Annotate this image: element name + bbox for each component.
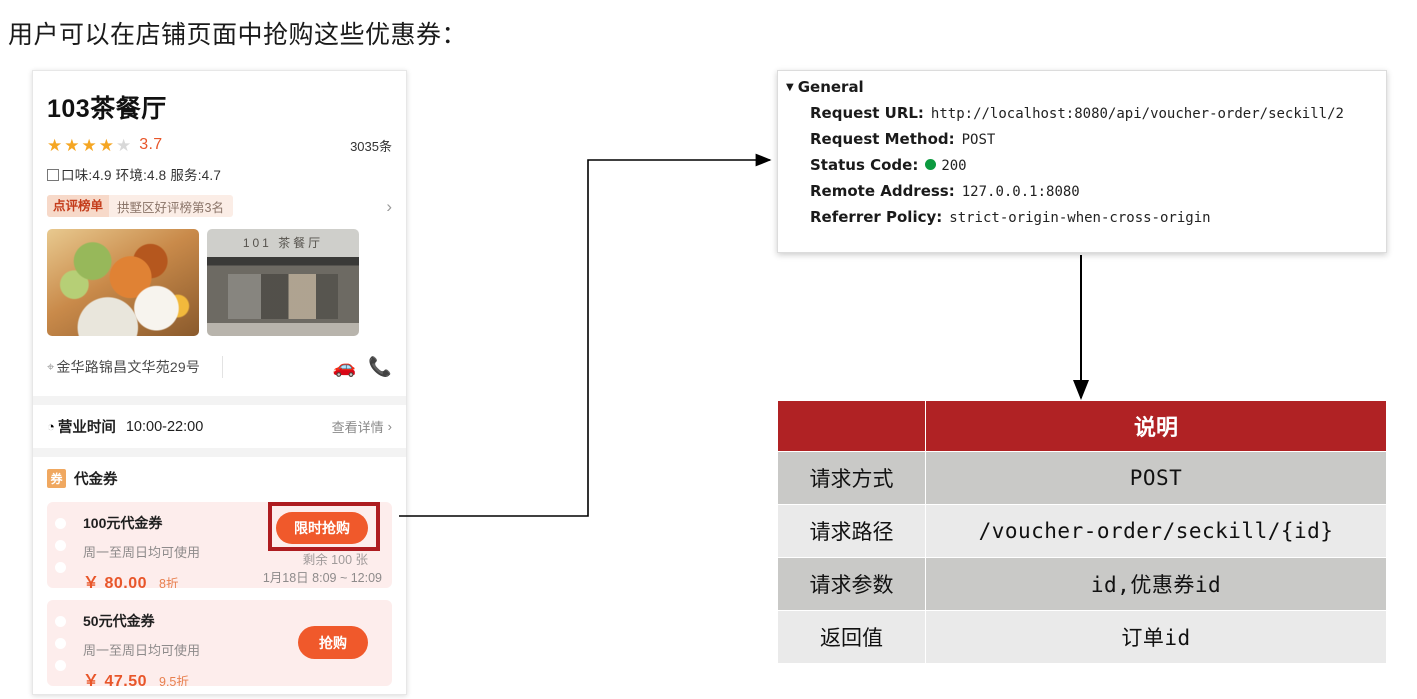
remote-address-label: Remote Address: xyxy=(810,182,955,200)
devtools-general-panel: ▼ General Request URL: http://localhost:… xyxy=(777,70,1387,253)
row-label-path: 请求路径 xyxy=(778,505,926,558)
voucher-time-range: 1月18日 8:09 ~ 12:09 xyxy=(263,567,382,586)
storefront-photo[interactable]: 101 茶餐厅 xyxy=(207,229,359,336)
voucher-desc: 周一至周日均可使用 xyxy=(83,542,200,561)
star-icon-empty: ★ xyxy=(116,137,131,154)
rank-row[interactable]: 点评榜单 拱墅区好评榜第3名 › xyxy=(47,195,392,217)
request-method-value: POST xyxy=(962,132,996,148)
score-text: 口味:4.9 环境:4.8 服务:4.7 xyxy=(61,168,221,183)
voucher-info: 50元代金券 周一至周日均可使用 ￥ 47.50 9.5折 xyxy=(83,611,200,686)
api-spec-table: 说明 请求方式 POST 请求路径 /voucher-order/seckill… xyxy=(777,400,1387,664)
table-row: 请求参数 id,优惠券id xyxy=(778,558,1387,611)
business-hours-row[interactable]: ◔ 营业时间 10:00-22:00 查看详情 › xyxy=(47,405,392,448)
photo-gallery: 101 茶餐厅 xyxy=(47,229,392,336)
star-icon: ★ xyxy=(64,137,79,154)
devtools-row: Request Method: POST xyxy=(778,130,1386,148)
rank-text: 拱墅区好评榜第3名 xyxy=(109,197,224,216)
devtools-row: Remote Address: 127.0.0.1:8080 xyxy=(778,182,1386,200)
page-title: 用户可以在店铺页面中抢购这些优惠券： xyxy=(8,15,467,51)
devtools-row: Request URL: http://localhost:8080/api/v… xyxy=(778,104,1386,122)
chevron-right-icon: › xyxy=(388,419,392,434)
voucher-remaining: 剩余 100 张 xyxy=(303,549,368,568)
voucher-section-header: 券 代金券 xyxy=(47,461,392,495)
view-detail-link[interactable]: 查看详情 › xyxy=(332,417,392,436)
score-breakdown: 口味:4.9 环境:4.8 服务:4.7 xyxy=(47,164,392,184)
star-icon: ★ xyxy=(99,137,114,154)
voucher-title: 50元代金券 xyxy=(83,611,200,631)
arrow-button-to-devtools xyxy=(399,160,770,516)
voucher-price-row: ￥ 80.00 8折 xyxy=(83,569,200,588)
star-icon: ★ xyxy=(82,137,97,154)
section-divider xyxy=(33,448,406,457)
referrer-policy-label: Referrer Policy: xyxy=(810,208,942,226)
voucher-discount: 8折 xyxy=(159,573,178,588)
voucher-badge-icon: 券 xyxy=(47,469,66,488)
clock-icon: ◔ xyxy=(47,419,55,434)
star-icon: ★ xyxy=(47,137,62,154)
shop-name: 103茶餐厅 xyxy=(47,89,392,125)
voucher-item[interactable]: 50元代金券 周一至周日均可使用 ￥ 47.50 9.5折 抢购 xyxy=(47,600,392,686)
request-url-value[interactable]: http://localhost:8080/api/voucher-order/… xyxy=(931,106,1344,122)
car-icon[interactable]: 🚗 xyxy=(333,358,357,377)
dot-icon xyxy=(55,540,66,551)
ticket-perforation xyxy=(55,502,66,588)
square-icon xyxy=(47,169,59,181)
address-row[interactable]: ⌖ 金华路锦昌文华苑29号 🚗 📞 xyxy=(47,352,392,396)
table-row: 请求方式 POST xyxy=(778,452,1387,505)
devtools-section-title: General xyxy=(798,78,864,96)
buy-button[interactable]: 抢购 xyxy=(298,626,368,659)
voucher-title: 100元代金券 xyxy=(83,513,200,533)
status-code-label: Status Code: xyxy=(810,156,918,174)
dot-icon xyxy=(55,660,66,671)
shop-card: 103茶餐厅 ★ ★ ★ ★ ★ 3.7 3035条 口味:4.9 环境:4.8… xyxy=(32,70,407,695)
table-row: 返回值 订单id xyxy=(778,611,1387,664)
voucher-info: 100元代金券 周一至周日均可使用 ￥ 80.00 8折 xyxy=(83,513,200,588)
devtools-section-header[interactable]: ▼ General xyxy=(778,71,1386,96)
dot-icon xyxy=(55,616,66,627)
view-detail-label: 查看详情 xyxy=(332,417,384,436)
status-ok-icon xyxy=(925,159,936,170)
table-header-description: 说明 xyxy=(926,401,1387,452)
row-value-method: POST xyxy=(926,452,1387,505)
request-method-label: Request Method: xyxy=(810,130,955,148)
voucher-desc: 周一至周日均可使用 xyxy=(83,640,200,659)
request-url-label: Request URL: xyxy=(810,104,924,122)
rating-value: 3.7 xyxy=(139,136,162,154)
dot-icon xyxy=(55,638,66,649)
voucher-discount: 9.5折 xyxy=(159,671,189,686)
limited-buy-button[interactable]: 限时抢购 xyxy=(276,512,368,544)
dot-icon xyxy=(55,518,66,529)
devtools-row: Referrer Policy: strict-origin-when-cros… xyxy=(778,208,1386,226)
rank-pill[interactable]: 点评榜单 拱墅区好评榜第3名 xyxy=(47,195,233,217)
row-value-params: id,优惠券id xyxy=(926,558,1387,611)
address-text: 金华路锦昌文华苑29号 xyxy=(56,357,200,377)
row-label-return: 返回值 xyxy=(778,611,926,664)
storefront-sign-text: 101 茶餐厅 xyxy=(207,234,359,251)
voucher-price-row: ￥ 47.50 9.5折 xyxy=(83,667,200,686)
referrer-policy-value: strict-origin-when-cross-origin xyxy=(949,210,1210,226)
rating-stars: ★ ★ ★ ★ ★ xyxy=(47,137,131,154)
table-header-row: 说明 xyxy=(778,401,1387,452)
voucher-section-title: 代金券 xyxy=(74,468,118,489)
voucher-price: ￥ 47.50 xyxy=(83,667,147,686)
row-label-method: 请求方式 xyxy=(778,452,926,505)
table-row: 请求路径 /voucher-order/seckill/{id} xyxy=(778,505,1387,558)
row-value-return: 订单id xyxy=(926,611,1387,664)
food-photo[interactable] xyxy=(47,229,199,336)
phone-icon[interactable]: 📞 xyxy=(368,358,392,377)
status-code-value: 200 xyxy=(941,158,966,174)
devtools-row: Status Code: 200 xyxy=(778,156,1386,174)
business-hours-value: 10:00-22:00 xyxy=(126,419,203,435)
address-actions: 🚗 📞 xyxy=(333,358,392,377)
ticket-perforation xyxy=(55,600,66,686)
remote-address-value: 127.0.0.1:8080 xyxy=(962,184,1080,200)
chevron-right-icon[interactable]: › xyxy=(386,198,392,215)
location-pin-icon: ⌖ xyxy=(47,359,54,375)
rating-row: ★ ★ ★ ★ ★ 3.7 3035条 xyxy=(47,135,392,155)
chevron-down-icon[interactable]: ▼ xyxy=(786,82,794,93)
review-count: 3035条 xyxy=(350,136,392,155)
section-divider xyxy=(33,396,406,405)
row-value-path: /voucher-order/seckill/{id} xyxy=(926,505,1387,558)
business-hours-label: 营业时间 xyxy=(58,416,116,437)
divider xyxy=(222,356,223,378)
table-header-empty xyxy=(778,401,926,452)
dot-icon xyxy=(55,562,66,573)
row-label-params: 请求参数 xyxy=(778,558,926,611)
voucher-price: ￥ 80.00 xyxy=(83,569,147,588)
voucher-item[interactable]: 100元代金券 周一至周日均可使用 ￥ 80.00 8折 限时抢购 剩余 100… xyxy=(47,502,392,588)
rank-badge: 点评榜单 xyxy=(47,195,109,217)
